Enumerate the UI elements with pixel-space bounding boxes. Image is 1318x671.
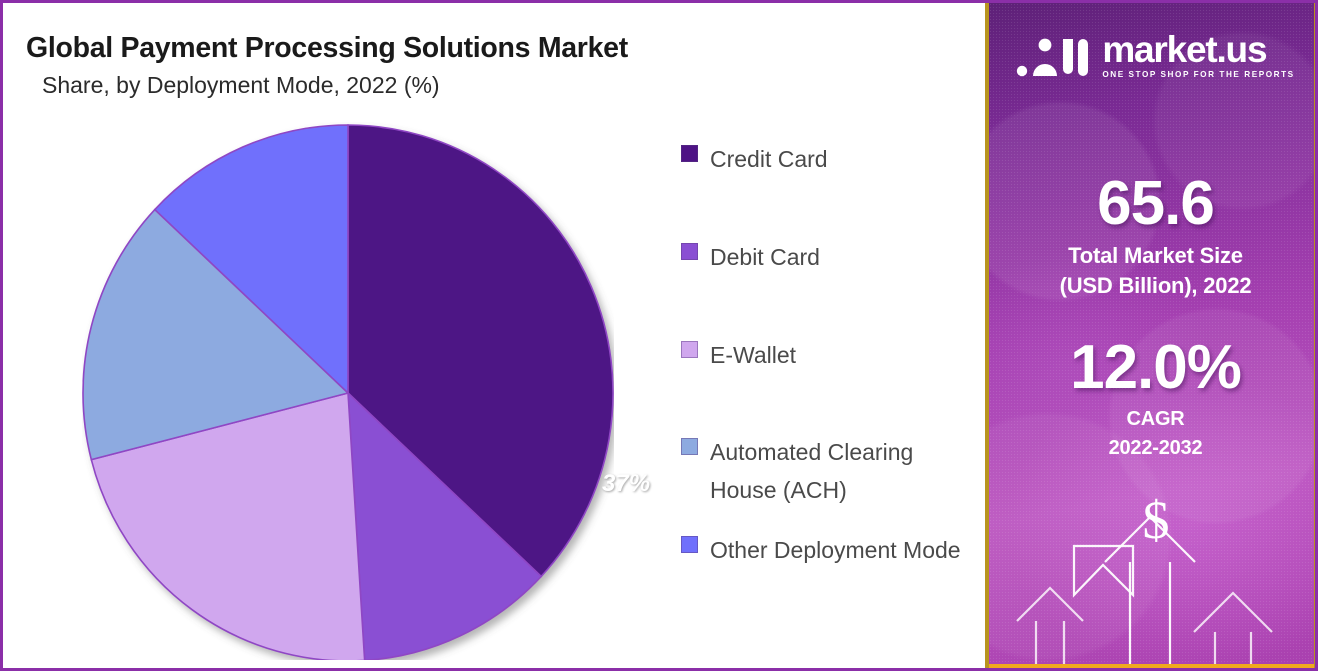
- chart-panel: Global Payment Processing Solutions Mark…: [0, 0, 985, 671]
- legend-item-e-wallet[interactable]: E-Wallet: [681, 336, 981, 374]
- pie-chart-svg: [82, 122, 614, 660]
- brand-logo-text: market.us ONE STOP SHOP FOR THE REPORTS: [1102, 32, 1294, 79]
- legend-swatch-icon: [681, 438, 698, 455]
- brand-logo[interactable]: market.us ONE STOP SHOP FOR THE REPORTS: [989, 32, 1318, 79]
- legend-label: E-Wallet: [710, 336, 796, 374]
- pie-chart: 37%: [82, 122, 614, 660]
- pie-slice-group: [83, 125, 613, 660]
- legend-swatch-icon: [681, 341, 698, 358]
- legend-item-credit-card[interactable]: Credit Card: [681, 140, 981, 178]
- page-subtitle: Share, by Deployment Mode, 2022 (%): [42, 72, 440, 99]
- stat-market-size-value: 65.6: [989, 168, 1318, 240]
- page-title: Global Payment Processing Solutions Mark…: [26, 32, 628, 65]
- stat-cagr-caption-line2: 2022-2032: [989, 435, 1318, 462]
- arrow-up-center-icon: [1074, 546, 1133, 595]
- legend-swatch-icon: [681, 145, 698, 162]
- growth-arrows-graphic: $: [989, 486, 1318, 671]
- legend-label: Credit Card: [710, 140, 828, 178]
- legend-label: Debit Card: [710, 238, 820, 276]
- brand-panel: market.us ONE STOP SHOP FOR THE REPORTS …: [985, 0, 1318, 671]
- stat-market-size-caption-line2: (USD Billion), 2022: [989, 272, 1318, 300]
- legend-label: Other Deployment Mode: [710, 531, 961, 569]
- arrow-up-right-icon: [1194, 593, 1272, 671]
- legend-item-debit-card[interactable]: Debit Card: [681, 238, 981, 276]
- brand-name: market.us: [1102, 32, 1294, 68]
- stat-cagr-value: 12.0%: [989, 332, 1318, 404]
- legend-swatch-icon: [681, 243, 698, 260]
- stat-cagr: 12.0% CAGR 2022-2032: [989, 332, 1318, 462]
- chart-legend: Credit Card Debit Card E-Wallet Automate…: [681, 140, 981, 569]
- stat-market-size-caption-line1: Total Market Size: [989, 242, 1318, 270]
- legend-item-other-deployment-mode[interactable]: Other Deployment Mode: [681, 531, 981, 569]
- pie-slice-label-credit-card: 37%: [602, 470, 650, 498]
- brand-tagline: ONE STOP SHOP FOR THE REPORTS: [1102, 70, 1294, 79]
- brand-bottom-accent-bar: [989, 664, 1318, 671]
- stat-cagr-caption-line1: CAGR: [989, 406, 1318, 433]
- infographic-root: Global Payment Processing Solutions Mark…: [0, 0, 1318, 671]
- arrow-up-left-icon: [1017, 588, 1083, 671]
- legend-label: Automated Clearing House (ACH): [710, 433, 981, 509]
- legend-swatch-icon: [681, 536, 698, 553]
- stat-market-size: 65.6 Total Market Size (USD Billion), 20…: [989, 168, 1318, 300]
- legend-item-automated-clearing-house[interactable]: Automated Clearing House (ACH): [681, 433, 981, 509]
- market-us-logo-icon: [1016, 33, 1092, 79]
